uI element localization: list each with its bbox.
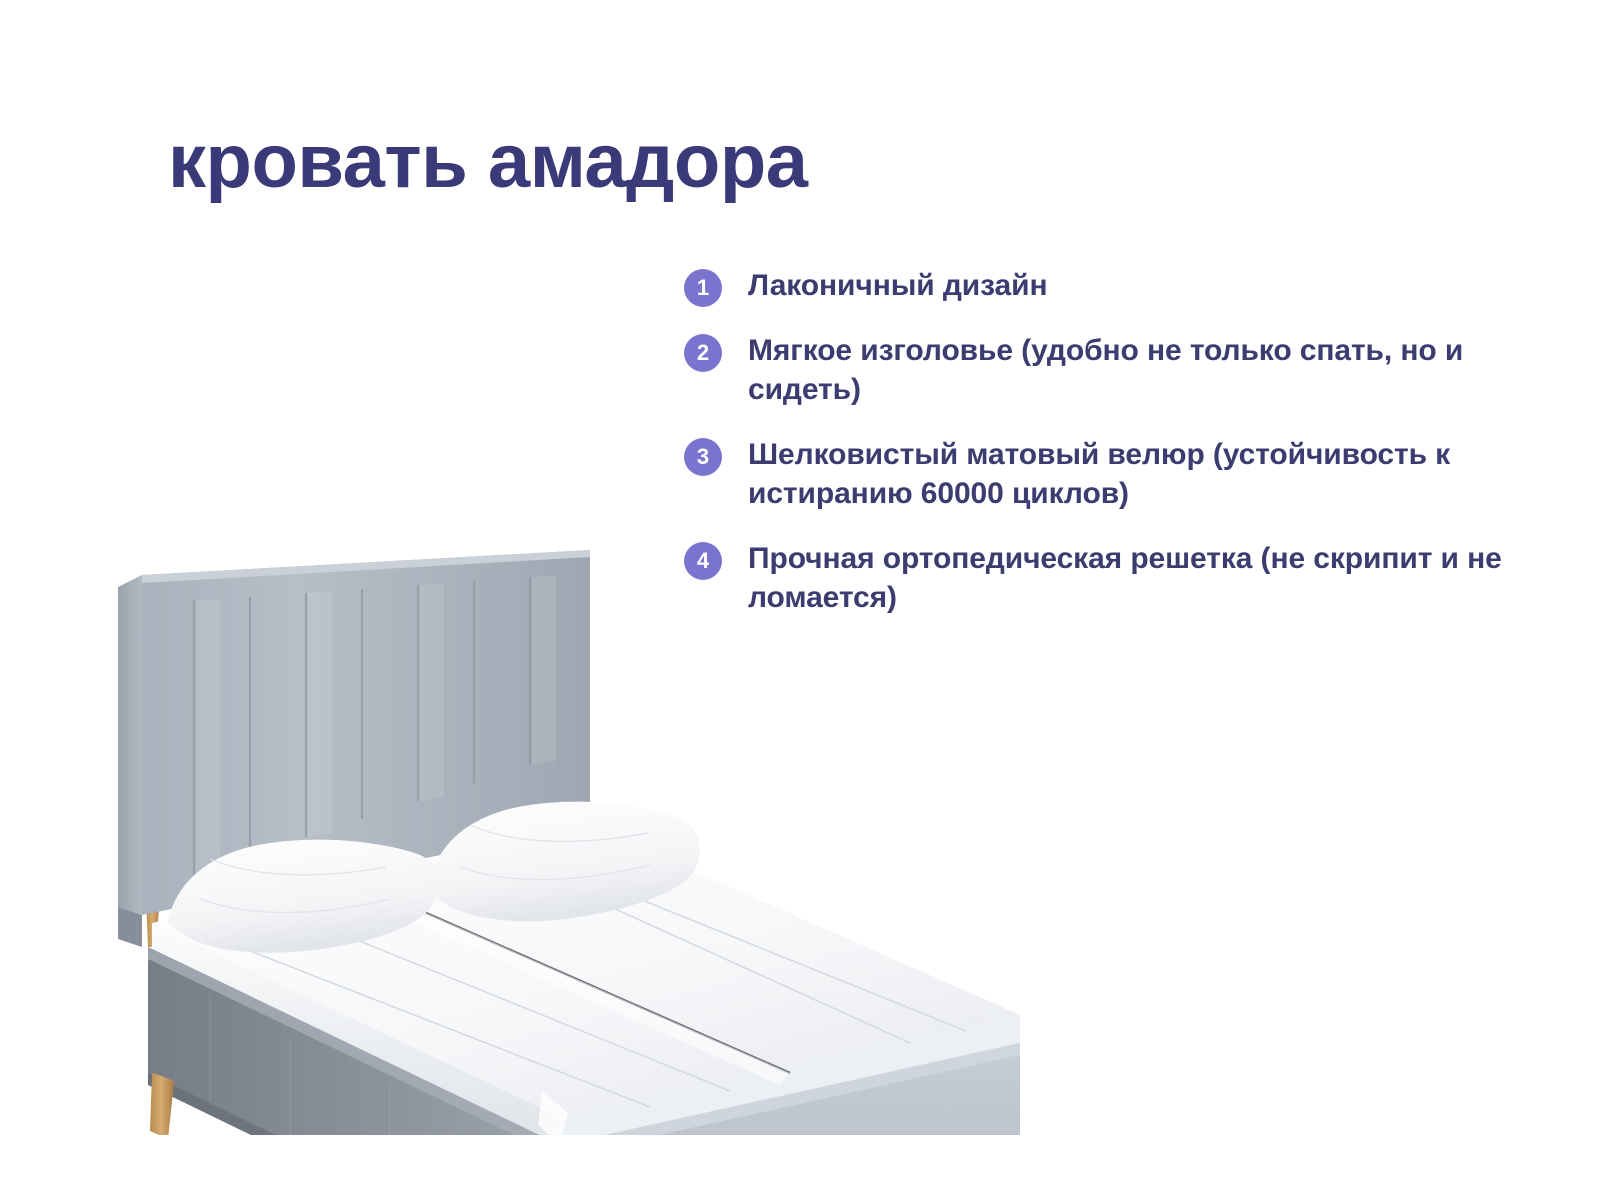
feature-text: Мягкое изголовье (удобно не только спать… [748, 331, 1504, 409]
feature-number-badge: 1 [684, 269, 722, 307]
product-banner: кровать амадора 1 Лаконичный дизайн 2 Мя… [0, 0, 1600, 1200]
bed-illustration [90, 495, 1070, 1135]
page-title: кровать амадора [168, 124, 808, 200]
feature-text: Лаконичный дизайн [748, 266, 1504, 305]
product-image [90, 495, 1070, 1135]
list-item: 2 Мягкое изголовье (удобно не только спа… [684, 331, 1504, 409]
feature-number-badge: 3 [684, 438, 722, 476]
list-item: 1 Лаконичный дизайн [684, 266, 1504, 305]
feature-number-badge: 2 [684, 334, 722, 372]
